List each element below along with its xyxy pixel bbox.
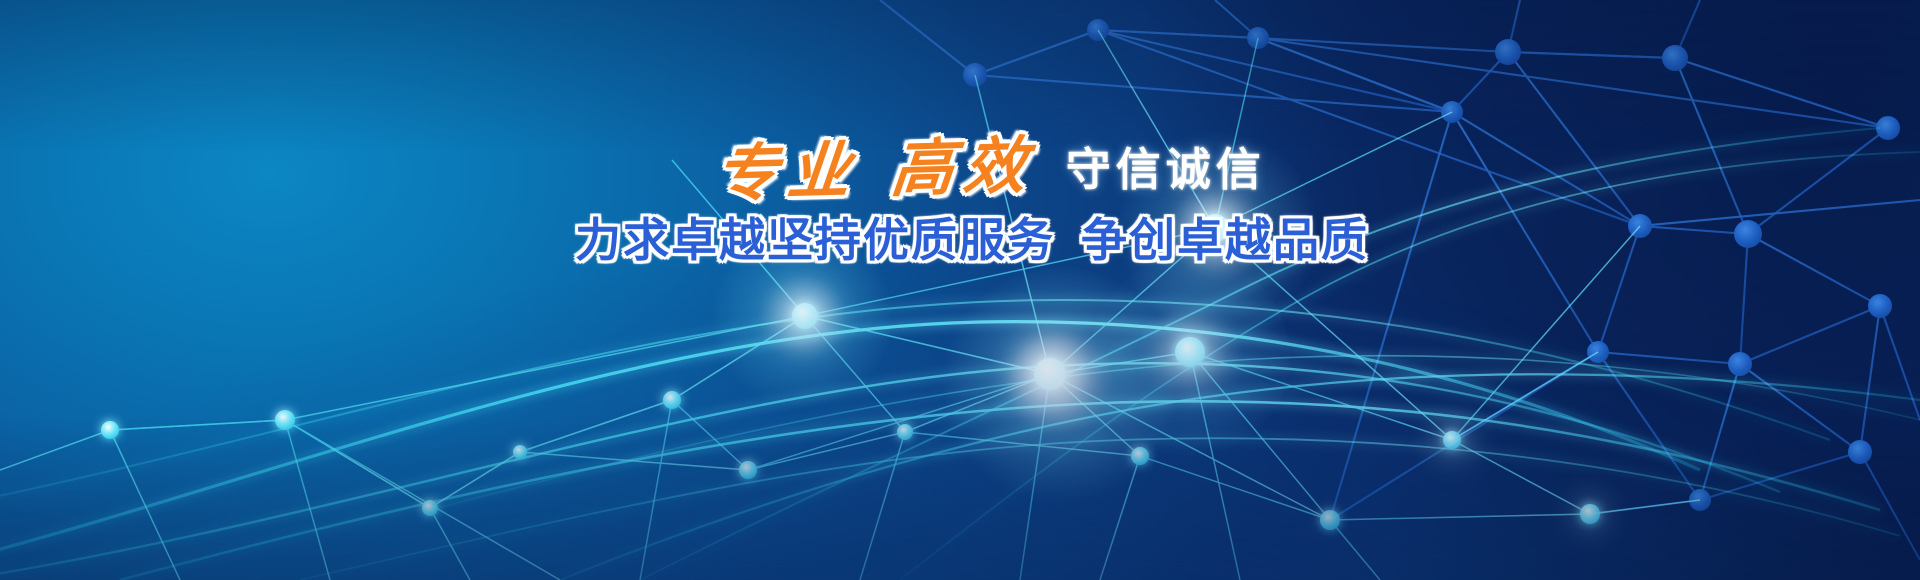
background-vignette xyxy=(0,0,1920,580)
hero-banner: 专业 高效守信诚信 力求卓越坚持优质服务争创卓越品质 xyxy=(0,0,1920,580)
